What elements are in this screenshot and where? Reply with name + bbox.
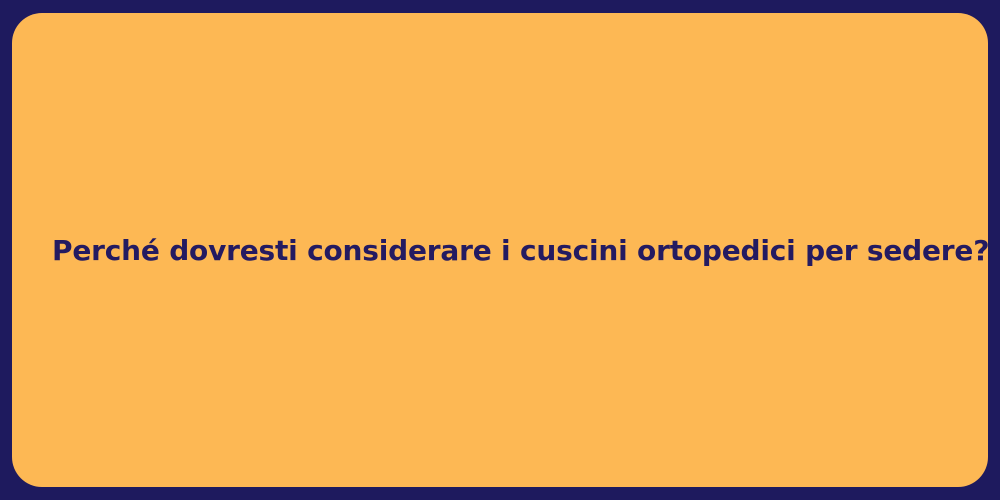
headline-card: Perché dovresti considerare i cuscini or… xyxy=(12,13,988,487)
page-title: Perché dovresti considerare i cuscini or… xyxy=(52,233,948,268)
headline-container: Perché dovresti considerare i cuscini or… xyxy=(12,233,988,268)
page-frame: Perché dovresti considerare i cuscini or… xyxy=(0,0,1000,500)
